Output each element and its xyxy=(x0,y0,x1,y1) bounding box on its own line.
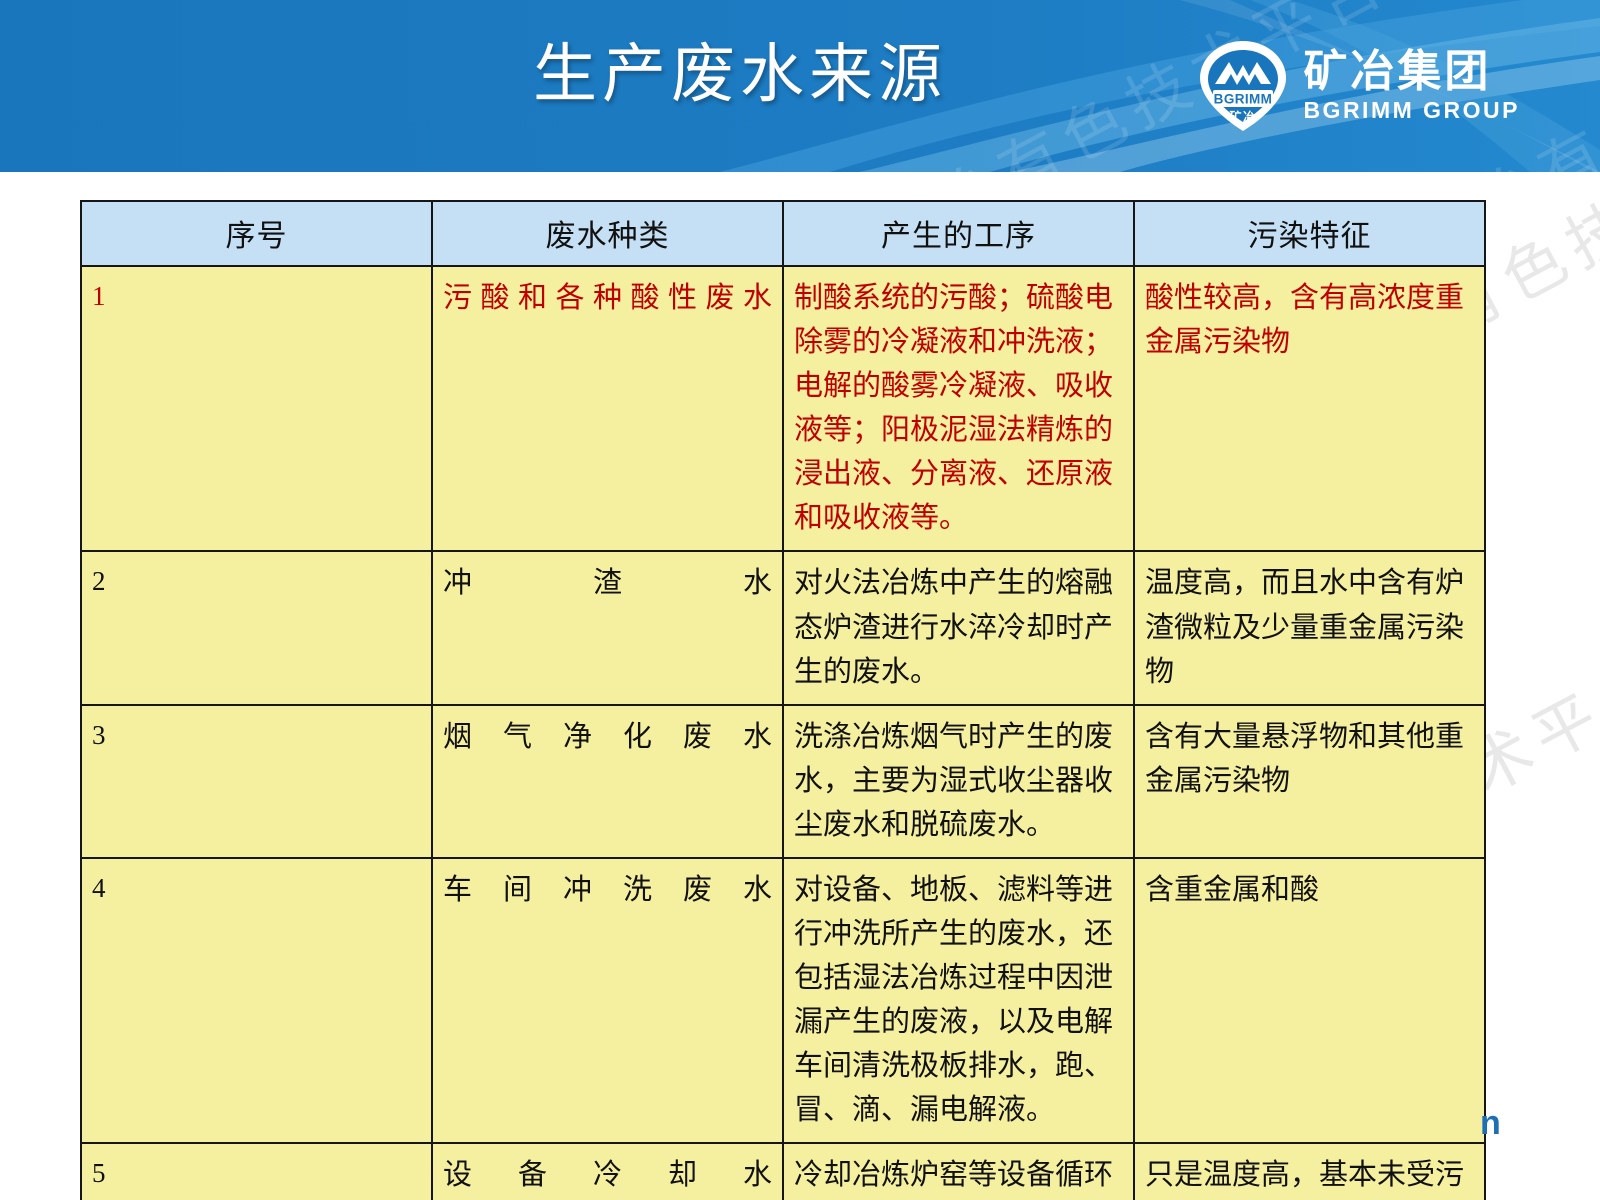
cell-feature: 只是温度高，基本未受污染 xyxy=(1134,1143,1485,1200)
cell-kind: 烟气净化废水 xyxy=(432,705,783,858)
cell-index: 1 xyxy=(81,266,432,551)
table-row: 4 车间冲洗废水 对设备、地板、滤料等进行冲洗所产生的废水，还包括湿法冶炼过程中… xyxy=(81,858,1485,1143)
brand-name-en: BGRIMM GROUP xyxy=(1303,99,1520,122)
wastewater-sources-table: 序号 废水种类 产生的工序 污染特征 1 污酸和各种酸性废水 制酸系统的污酸；硫… xyxy=(80,200,1486,1200)
cell-process: 对设备、地板、滤料等进行冲洗所产生的废水，还包括湿法冶炼过程中因泄漏产生的废液，… xyxy=(783,858,1134,1143)
column-header-feature: 污染特征 xyxy=(1134,201,1485,266)
stray-glyph: n xyxy=(1480,1104,1501,1143)
cell-feature: 酸性较高，含有高浓度重金属污染物 xyxy=(1134,266,1485,551)
cell-process: 对火法冶炼中产生的熔融态炉渣进行水淬冷却时产生的废水。 xyxy=(783,551,1134,704)
column-header-process: 产生的工序 xyxy=(783,201,1134,266)
table-header-row: 序号 废水种类 产生的工序 污染特征 xyxy=(81,201,1485,266)
cell-index: 4 xyxy=(81,858,432,1143)
brand-logo: BGRIMM 矿冶 矿冶集团 BGRIMM GROUP xyxy=(1197,38,1520,134)
svg-text:矿冶: 矿冶 xyxy=(1230,109,1257,124)
table-row: 5 设备冷却水 冷却冶炼炉窑等设备循环水排污产生的废水。 只是温度高，基本未受污… xyxy=(81,1143,1485,1200)
cell-kind: 污酸和各种酸性废水 xyxy=(432,266,783,551)
header-banner: 生产废水来源 BGRIMM 矿冶 矿冶集团 BGRIMM GROUP xyxy=(0,0,1600,172)
table-row: 1 污酸和各种酸性废水 制酸系统的污酸；硫酸电除雾的冷凝液和冲洗液；电解的酸雾冷… xyxy=(81,266,1485,551)
cell-index: 5 xyxy=(81,1143,432,1200)
cell-process: 冷却冶炼炉窑等设备循环水排污产生的废水。 xyxy=(783,1143,1134,1200)
table-row: 3 烟气净化废水 洗涤冶炼烟气时产生的废水，主要为湿式收尘器收尘废水和脱硫废水。… xyxy=(81,705,1485,858)
cell-feature: 温度高，而且水中含有炉渣微粒及少量重金属污染物 xyxy=(1134,551,1485,704)
cell-index: 2 xyxy=(81,551,432,704)
column-header-kind: 废水种类 xyxy=(432,201,783,266)
cell-feature: 含重金属和酸 xyxy=(1134,858,1485,1143)
bgrimm-logo-icon: BGRIMM 矿冶 xyxy=(1197,38,1289,134)
cell-kind: 车间冲洗废水 xyxy=(432,858,783,1143)
slide-root: 中冶有色技术平台 中冶有色技术平台 中冶有色技术平台 中冶有色技术平台 中冶有色… xyxy=(0,0,1600,1200)
table-body: 1 污酸和各种酸性废水 制酸系统的污酸；硫酸电除雾的冷凝液和冲洗液；电解的酸雾冷… xyxy=(81,266,1485,1200)
brand-logo-text: 矿冶集团 BGRIMM GROUP xyxy=(1303,50,1520,122)
cell-index: 3 xyxy=(81,705,432,858)
cell-process: 制酸系统的污酸；硫酸电除雾的冷凝液和冲洗液；电解的酸雾冷凝液、吸收液等；阳极泥湿… xyxy=(783,266,1134,551)
cell-process: 洗涤冶炼烟气时产生的废水，主要为湿式收尘器收尘废水和脱硫废水。 xyxy=(783,705,1134,858)
svg-text:BGRIMM: BGRIMM xyxy=(1214,92,1273,107)
column-header-index: 序号 xyxy=(81,201,432,266)
cell-feature: 含有大量悬浮物和其他重金属污染物 xyxy=(1134,705,1485,858)
brand-name-cn: 矿冶集团 xyxy=(1303,50,1491,94)
wastewater-sources-table-wrap: 序号 废水种类 产生的工序 污染特征 1 污酸和各种酸性废水 制酸系统的污酸；硫… xyxy=(80,200,1486,1200)
cell-kind: 设备冷却水 xyxy=(432,1143,783,1200)
table-header: 序号 废水种类 产生的工序 污染特征 xyxy=(81,201,1485,266)
cell-kind: 冲渣水 xyxy=(432,551,783,704)
table-row: 2 冲渣水 对火法冶炼中产生的熔融态炉渣进行水淬冷却时产生的废水。 温度高，而且… xyxy=(81,551,1485,704)
